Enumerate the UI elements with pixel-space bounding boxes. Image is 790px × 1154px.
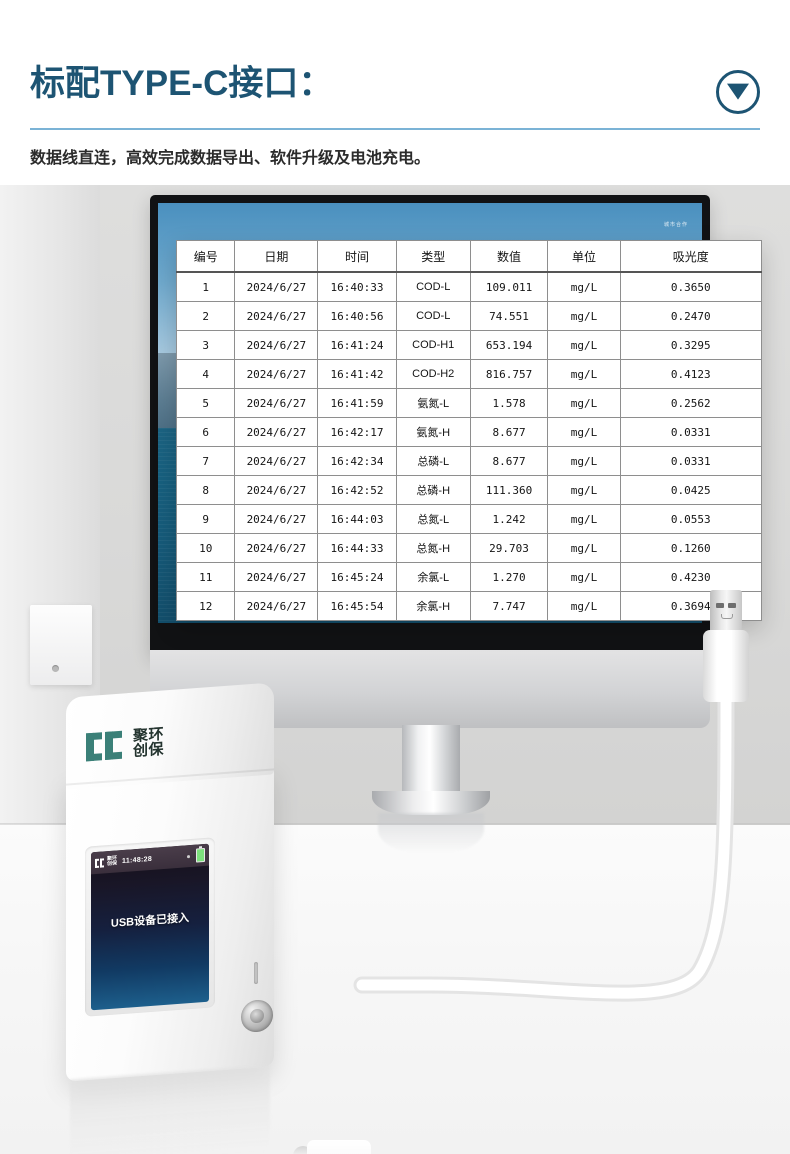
chevron-down-circle-icon — [716, 70, 760, 114]
cell-absorbance: 0.0331 — [620, 418, 761, 447]
monitor-stand-neck — [402, 725, 460, 797]
cell-no: 4 — [177, 360, 235, 389]
table-row[interactable]: 2 2024/6/27 16:40:56 COD-L 74.551 mg/L 0… — [177, 302, 762, 331]
cell-no: 5 — [177, 389, 235, 418]
cell-no: 6 — [177, 418, 235, 447]
page-header: 标配TYPE-C接口： 数据线直连，高效完成数据导出、软件升级及电池充电。 — [0, 0, 790, 185]
cell-type: 余氯-H — [396, 592, 470, 621]
cell-no: 9 — [177, 505, 235, 534]
cell-time: 16:45:54 — [318, 592, 397, 621]
cell-value: 29.703 — [470, 534, 548, 563]
cell-date: 2024/6/27 — [235, 331, 318, 360]
cell-type: 氨氮-H — [396, 418, 470, 447]
device-statusbar-logo-icon — [95, 858, 104, 868]
cell-no: 12 — [177, 592, 235, 621]
cell-value: 816.757 — [470, 360, 548, 389]
table-row[interactable]: 5 2024/6/27 16:41:59 氨氮-L 1.578 mg/L 0.2… — [177, 389, 762, 418]
cell-value: 109.011 — [470, 272, 548, 302]
cell-no: 11 — [177, 563, 235, 592]
cell-time: 16:44:03 — [318, 505, 397, 534]
measurement-table-panel: 编号 日期 时间 类型 数值 单位 吸光度 1 2024/6/27 16:40:… — [176, 240, 762, 621]
column-header-date: 日期 — [235, 241, 318, 273]
cell-type: 总氮-L — [396, 505, 470, 534]
cell-unit: mg/L — [548, 476, 620, 505]
cell-date: 2024/6/27 — [235, 563, 318, 592]
cell-type: COD-L — [396, 302, 470, 331]
cell-unit: mg/L — [548, 389, 620, 418]
cell-unit: mg/L — [548, 534, 620, 563]
usb-a-metal-tip — [710, 590, 742, 634]
table-row[interactable]: 3 2024/6/27 16:41:24 COD-H1 653.194 mg/L… — [177, 331, 762, 360]
cell-type: COD-H2 — [396, 360, 470, 389]
wallpaper-caption: 城市合作 — [664, 221, 688, 228]
cell-type: 总磷-H — [396, 476, 470, 505]
cell-no: 8 — [177, 476, 235, 505]
cell-type: 总磷-L — [396, 447, 470, 476]
usb-a-trident-icon — [721, 614, 733, 619]
cell-no: 7 — [177, 447, 235, 476]
column-header-no: 编号 — [177, 241, 235, 273]
brand-line-2: 创保 — [133, 742, 164, 759]
cell-value: 1.270 — [470, 563, 548, 592]
cell-value: 1.242 — [470, 505, 548, 534]
cell-absorbance: 0.3295 — [620, 331, 761, 360]
column-header-unit: 单位 — [548, 241, 620, 273]
usb-a-pin-right — [728, 603, 736, 608]
table-row[interactable]: 10 2024/6/27 16:44:33 总氮-H 29.703 mg/L 0… — [177, 534, 762, 563]
water-quality-analyzer-device: 聚环 创保 聚环 创保 11:48:28 — [58, 690, 288, 1095]
device-clock: 11:48:28 — [122, 855, 152, 864]
cell-absorbance: 0.0425 — [620, 476, 761, 505]
table-row[interactable]: 6 2024/6/27 16:42:17 氨氮-H 8.677 mg/L 0.0… — [177, 418, 762, 447]
backdrop-prop-card — [30, 605, 92, 685]
column-header-absorbance: 吸光度 — [620, 241, 761, 273]
cell-no: 2 — [177, 302, 235, 331]
device-brand-text: 聚环 创保 — [133, 727, 164, 759]
cell-date: 2024/6/27 — [235, 534, 318, 563]
table-row[interactable]: 9 2024/6/27 16:44:03 总氮-L 1.242 mg/L 0.0… — [177, 505, 762, 534]
cell-absorbance: 0.0331 — [620, 447, 761, 476]
table-row[interactable]: 12 2024/6/27 16:45:54 余氯-H 7.747 mg/L 0.… — [177, 592, 762, 621]
cell-unit: mg/L — [548, 505, 620, 534]
cell-time: 16:40:56 — [318, 302, 397, 331]
table-row[interactable]: 11 2024/6/27 16:45:24 余氯-L 1.270 mg/L 0.… — [177, 563, 762, 592]
cell-value: 7.747 — [470, 592, 548, 621]
device-usb-port[interactable] — [254, 962, 258, 984]
cell-unit: mg/L — [548, 418, 620, 447]
device-indicator-dot-icon — [187, 855, 190, 858]
table-row[interactable]: 7 2024/6/27 16:42:34 总磷-L 8.677 mg/L 0.0… — [177, 447, 762, 476]
cell-time: 16:42:34 — [318, 447, 397, 476]
cell-unit: mg/L — [548, 360, 620, 389]
monitor-stand-foot — [372, 791, 490, 815]
usb-a-shell — [703, 630, 749, 702]
cell-time: 16:40:33 — [318, 272, 397, 302]
cell-value: 111.360 — [470, 476, 548, 505]
table-row[interactable]: 1 2024/6/27 16:40:33 COD-L 109.011 mg/L … — [177, 272, 762, 302]
usb-c-shell — [307, 1140, 371, 1154]
cell-value: 1.578 — [470, 389, 548, 418]
cell-date: 2024/6/27 — [235, 476, 318, 505]
cell-date: 2024/6/27 — [235, 418, 318, 447]
prop-screw-icon — [52, 665, 59, 672]
column-header-value: 数值 — [470, 241, 548, 273]
cell-value: 74.551 — [470, 302, 548, 331]
cell-absorbance: 0.4123 — [620, 360, 761, 389]
product-scene: 城市合作 编号 日期 时间 类型 数值 单位 — [0, 185, 790, 1154]
cell-unit: mg/L — [548, 302, 620, 331]
device-brand-logo: 聚环 创保 — [86, 718, 206, 769]
cell-absorbance: 0.2562 — [620, 389, 761, 418]
cell-absorbance: 0.4230 — [620, 563, 761, 592]
measurement-table: 编号 日期 时间 类型 数值 单位 吸光度 1 2024/6/27 16:40:… — [176, 240, 762, 621]
cell-time: 16:42:17 — [318, 418, 397, 447]
cell-date: 2024/6/27 — [235, 389, 318, 418]
cell-type: COD-L — [396, 272, 470, 302]
cell-unit: mg/L — [548, 592, 620, 621]
device-reflection — [70, 1065, 270, 1154]
cell-time: 16:41:24 — [318, 331, 397, 360]
monitor-reflection — [378, 813, 484, 853]
cell-date: 2024/6/27 — [235, 505, 318, 534]
cell-date: 2024/6/27 — [235, 592, 318, 621]
usb-c-connector — [293, 1140, 371, 1154]
cell-value: 8.677 — [470, 418, 548, 447]
header-divider — [30, 128, 760, 130]
cell-absorbance: 0.1260 — [620, 534, 761, 563]
cell-date: 2024/6/27 — [235, 447, 318, 476]
table-row[interactable]: 8 2024/6/27 16:42:52 总磷-H 111.360 mg/L 0… — [177, 476, 762, 505]
chevron-down-triangle — [727, 84, 749, 100]
table-row[interactable]: 4 2024/6/27 16:41:42 COD-H2 816.757 mg/L… — [177, 360, 762, 389]
device-statusbar-brand: 聚环 创保 — [107, 856, 117, 867]
battery-icon — [196, 848, 205, 863]
jc-logo-mark-icon — [86, 730, 126, 761]
column-header-time: 时间 — [318, 241, 397, 273]
cell-unit: mg/L — [548, 447, 620, 476]
cell-no: 10 — [177, 534, 235, 563]
cell-unit: mg/L — [548, 272, 620, 302]
cell-no: 1 — [177, 272, 235, 302]
cell-value: 8.677 — [470, 447, 548, 476]
cell-type: 总氮-H — [396, 534, 470, 563]
cell-unit: mg/L — [548, 563, 620, 592]
cell-time: 16:41:42 — [318, 360, 397, 389]
cell-type: 余氯-L — [396, 563, 470, 592]
cell-date: 2024/6/27 — [235, 302, 318, 331]
cell-date: 2024/6/27 — [235, 272, 318, 302]
cell-time: 16:42:52 — [318, 476, 397, 505]
device-screen-message: USB设备已接入 — [91, 908, 209, 933]
cell-time: 16:41:59 — [318, 389, 397, 418]
cell-date: 2024/6/27 — [235, 360, 318, 389]
cell-absorbance: 0.3650 — [620, 272, 761, 302]
cell-no: 3 — [177, 331, 235, 360]
usb-a-connector — [703, 590, 749, 702]
column-header-type: 类型 — [396, 241, 470, 273]
cell-type: 氨氮-L — [396, 389, 470, 418]
device-screen[interactable]: 聚环 创保 11:48:28 USB设备已接入 — [91, 844, 209, 1011]
cell-type: COD-H1 — [396, 331, 470, 360]
statusbar-brand-line-2: 创保 — [107, 861, 117, 867]
cell-unit: mg/L — [548, 331, 620, 360]
page-title: 标配TYPE-C接口： — [30, 62, 333, 106]
cell-time: 16:45:24 — [318, 563, 397, 592]
usb-a-pin-left — [716, 603, 724, 608]
table-header-row: 编号 日期 时间 类型 数值 单位 吸光度 — [177, 241, 762, 273]
cell-time: 16:44:33 — [318, 534, 397, 563]
page-subtitle: 数据线直连，高效完成数据导出、软件升级及电池充电。 — [30, 146, 430, 172]
product-detail-page: 标配TYPE-C接口： 数据线直连，高效完成数据导出、软件升级及电池充电。 — [0, 0, 790, 1154]
cell-absorbance: 0.0553 — [620, 505, 761, 534]
cell-value: 653.194 — [470, 331, 548, 360]
cell-absorbance: 0.2470 — [620, 302, 761, 331]
